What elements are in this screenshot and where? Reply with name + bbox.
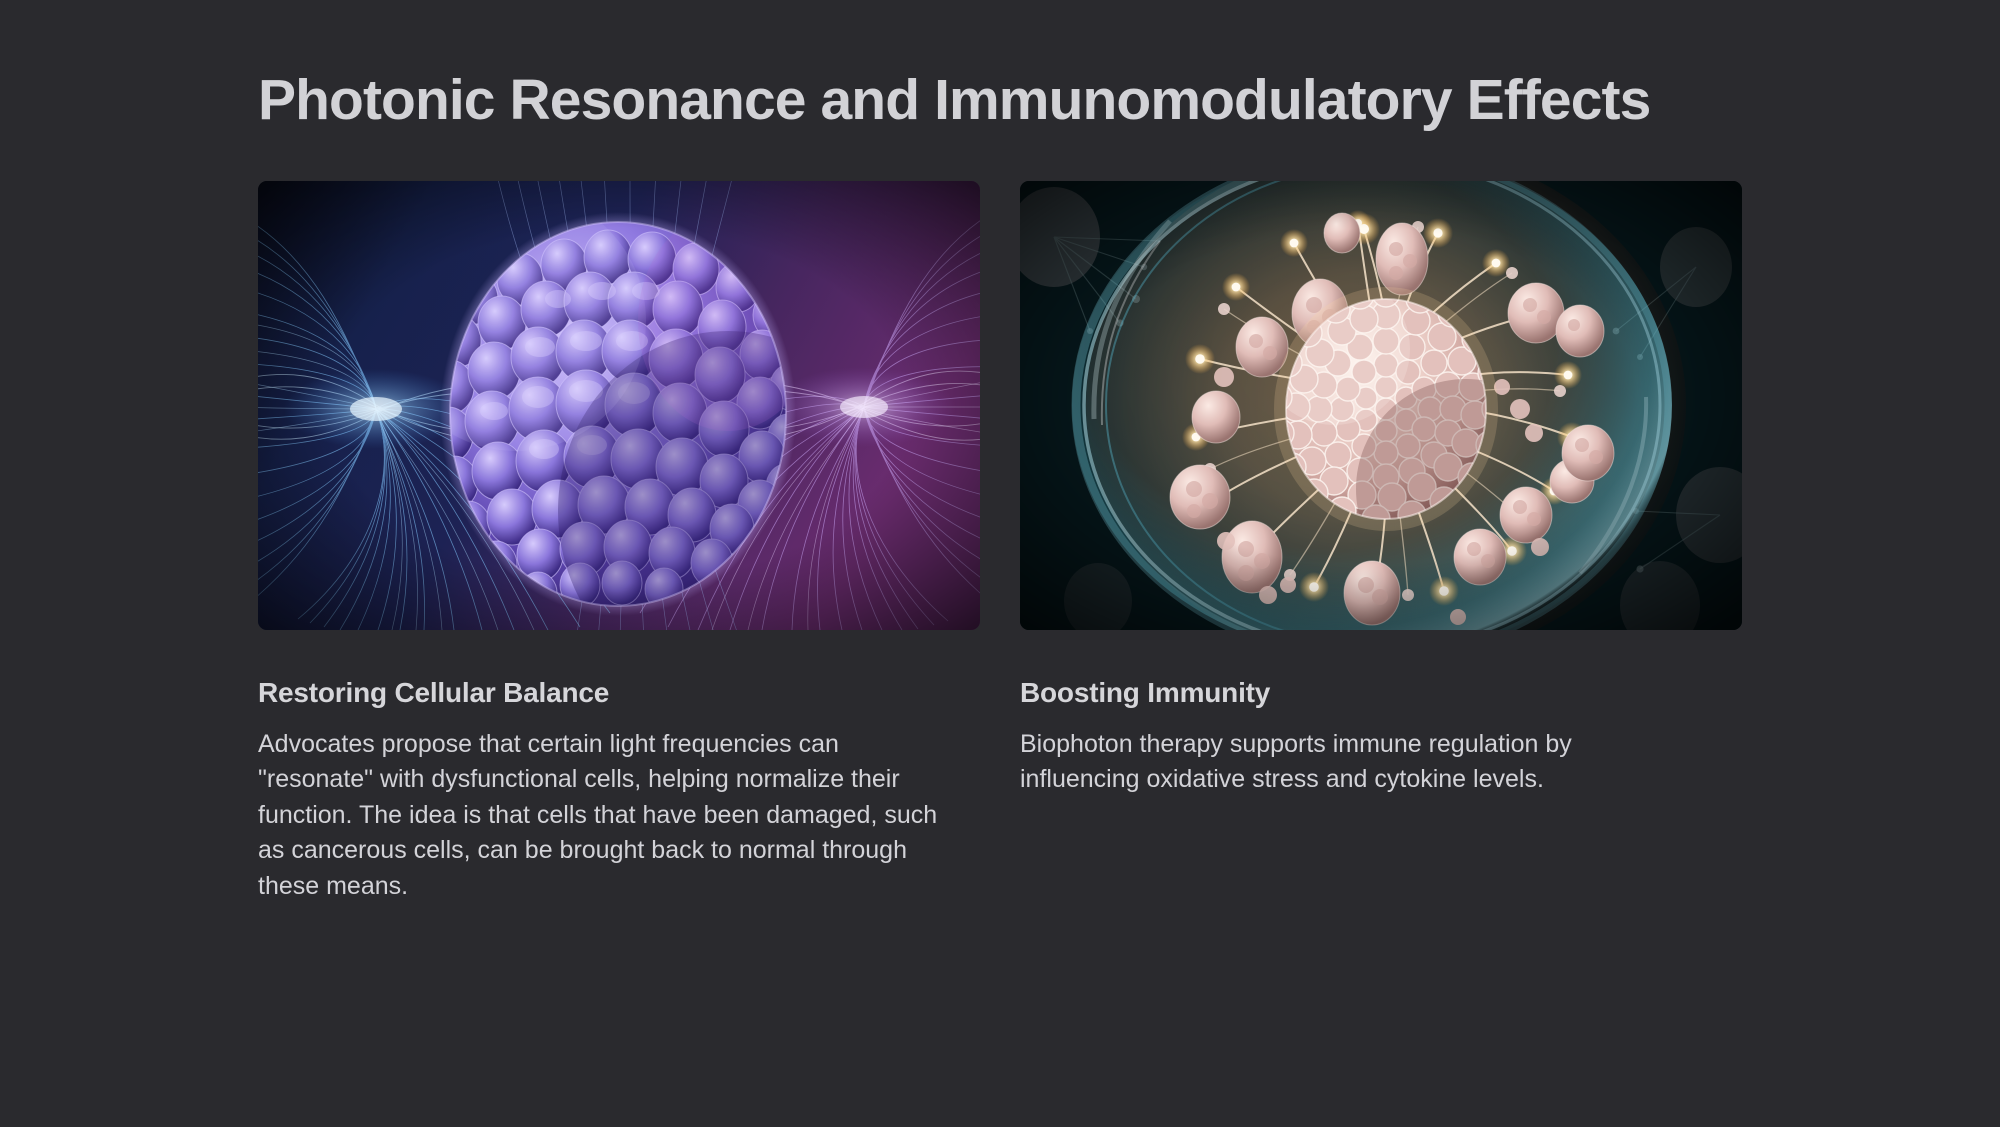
- card-grid: Restoring Cellular Balance Advocates pro…: [258, 181, 1742, 905]
- card-boosting-immunity[interactable]: Boosting Immunity Biophoton therapy supp…: [1020, 181, 1742, 905]
- purple-cell-cluster-resonance-image: [258, 181, 980, 630]
- immune-cell-biophoton-image: [1020, 181, 1742, 630]
- page-title: Photonic Resonance and Immunomodulatory …: [258, 68, 1728, 133]
- card-heading: Boosting Immunity: [1020, 677, 1742, 709]
- card-heading: Restoring Cellular Balance: [258, 677, 980, 709]
- page-root: Photonic Resonance and Immunomodulatory …: [0, 0, 2000, 1127]
- card-body-text: Biophoton therapy supports immune regula…: [1020, 727, 1680, 798]
- card-restoring-cellular-balance[interactable]: Restoring Cellular Balance Advocates pro…: [258, 181, 980, 905]
- card-body-text: Advocates propose that certain light fre…: [258, 727, 958, 905]
- content-container: Photonic Resonance and Immunomodulatory …: [258, 0, 1742, 904]
